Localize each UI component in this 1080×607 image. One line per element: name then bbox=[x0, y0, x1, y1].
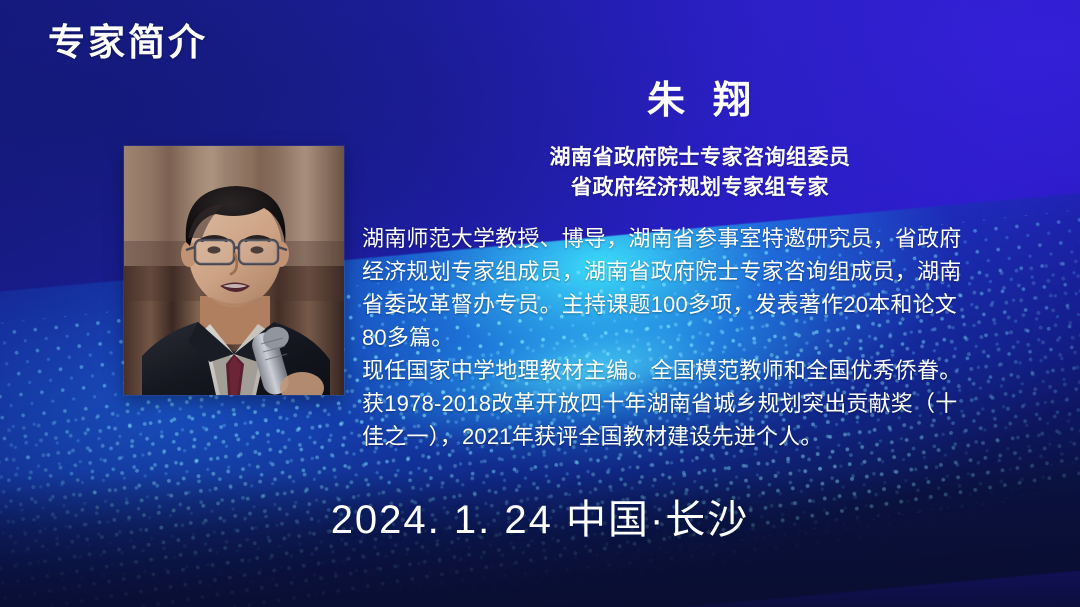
portrait-illustration bbox=[124, 146, 344, 395]
expert-name-first: 朱 bbox=[647, 80, 687, 122]
bio-line: 80多篇。 bbox=[362, 321, 990, 354]
expert-titles: 湖南省政府院士专家咨询组委员 省政府经济规划专家组专家 bbox=[360, 143, 1040, 203]
expert-title-line: 湖南省政府院士专家咨询组委员 bbox=[360, 143, 1040, 173]
event-date-location: 2024. 1. 24 中国·长沙 bbox=[0, 487, 1080, 545]
expert-name: 朱翔 bbox=[360, 82, 1040, 122]
expert-bio: 湖南师范大学教授、博导，湖南省参事室特邀研究员，省政府 经济规划专家组成员，湖南… bbox=[362, 222, 990, 453]
presentation-slide: 专家简介 bbox=[0, 0, 1080, 607]
bio-line: 经济规划专家组成员，湖南省政府院士专家咨询组成员，湖南 bbox=[362, 255, 990, 288]
bio-line: 湖南师范大学教授、博导，湖南省参事室特邀研究员，省政府 bbox=[362, 222, 990, 255]
bio-line: 佳之一），2021年获评全国教材建设先进个人。 bbox=[362, 420, 990, 453]
bio-line: 现任国家中学地理教材主编。全国模范教师和全国优秀侨眷。 bbox=[362, 354, 990, 387]
expert-title-line: 省政府经济规划专家组专家 bbox=[360, 173, 1040, 203]
page-title: 专家简介 bbox=[48, 22, 208, 63]
expert-name-last: 翔 bbox=[713, 80, 753, 122]
bio-line: 省委改革督办专员。主持课题100多项，发表著作20本和论文 bbox=[362, 288, 990, 321]
avatar bbox=[124, 146, 344, 395]
bio-line: 获1978-2018改革开放四十年湖南省城乡规划突出贡献奖（十 bbox=[362, 387, 990, 420]
